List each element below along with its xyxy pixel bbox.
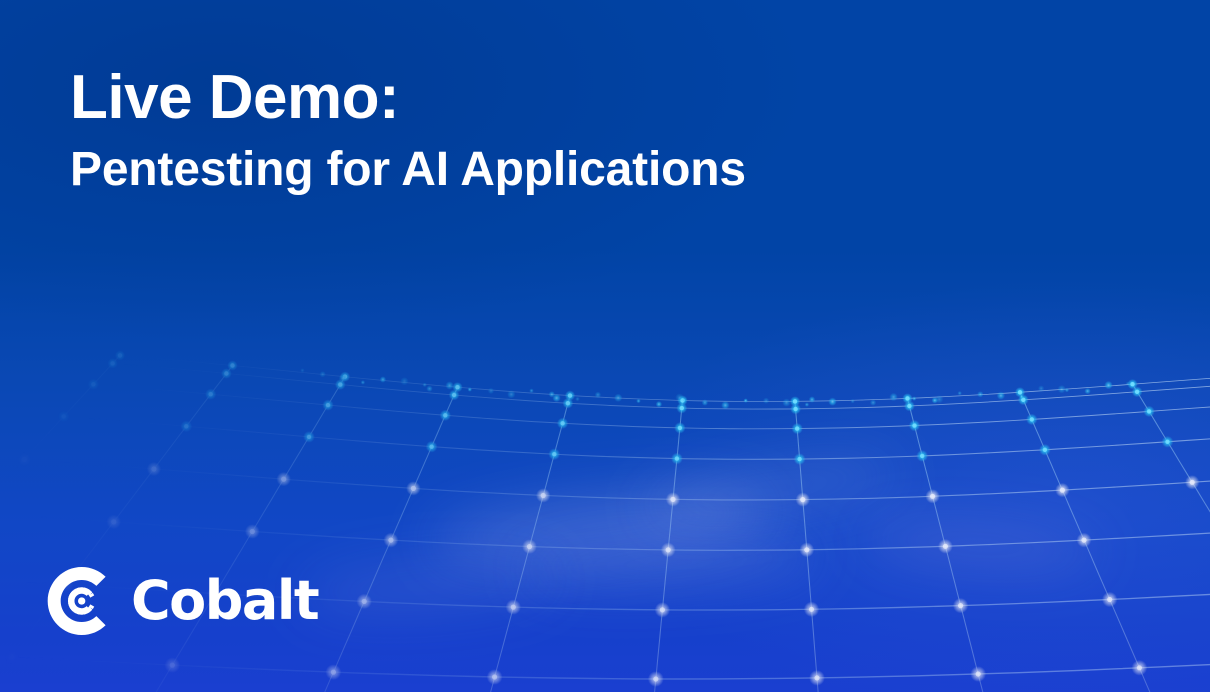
brand-wordmark: Cobalt	[131, 574, 318, 628]
page-title: Live Demo:	[70, 62, 970, 134]
cobalt-gear-c-icon	[47, 566, 115, 636]
slide-canvas: Live Demo: Pentesting for AI Application…	[0, 0, 1210, 692]
page-subtitle: Pentesting for AI Applications	[70, 142, 970, 198]
cobalt-logo: Cobalt	[47, 566, 318, 636]
headline-block: Live Demo: Pentesting for AI Application…	[70, 62, 970, 198]
